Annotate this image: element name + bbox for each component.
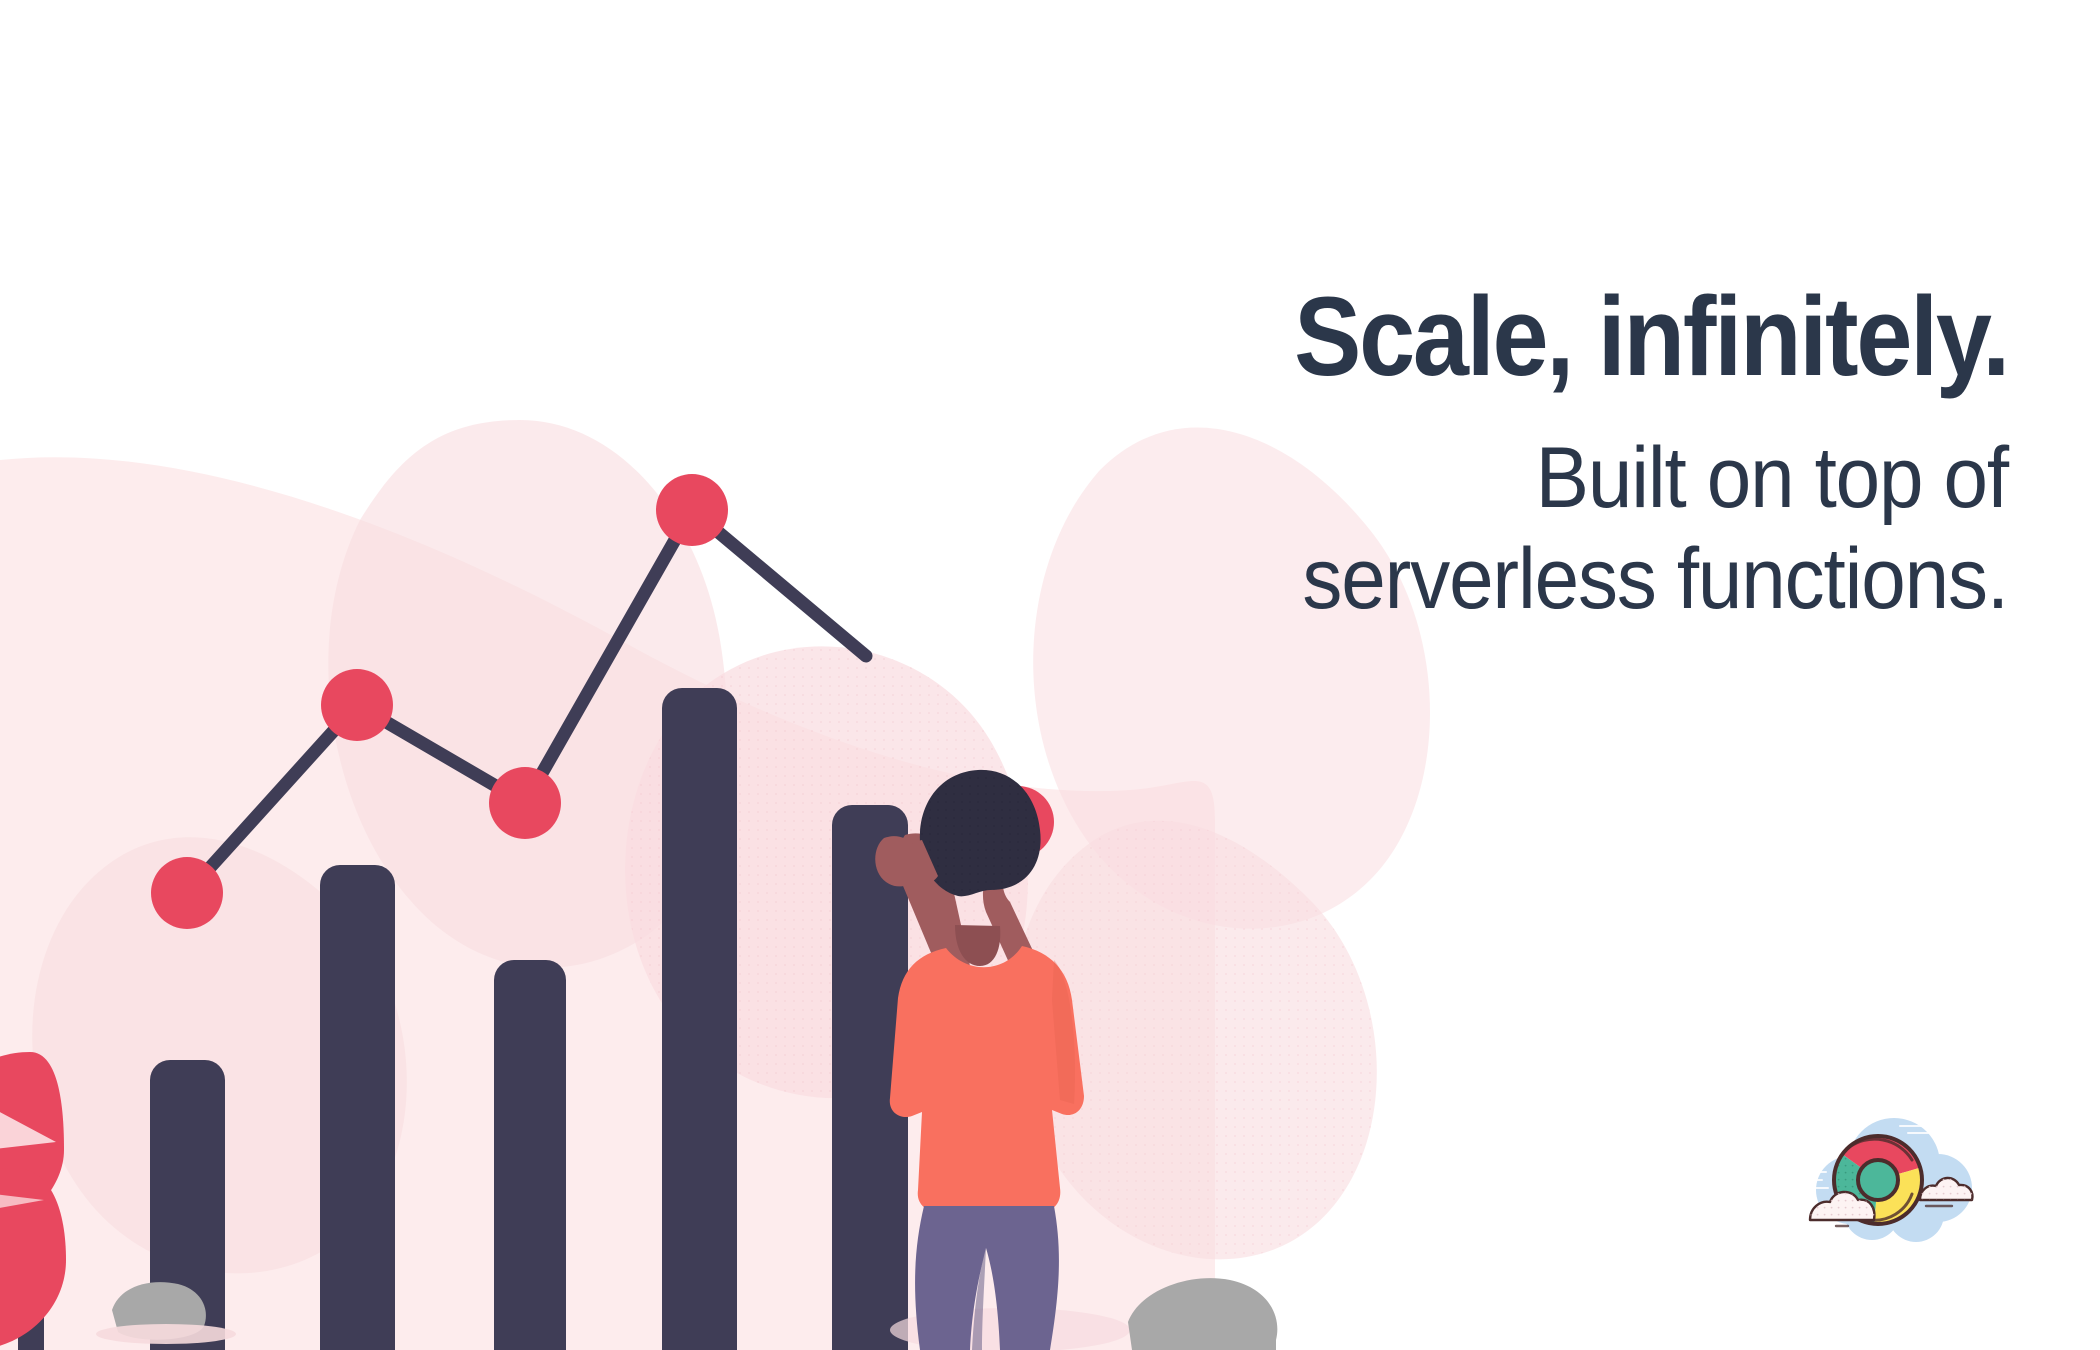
- rock-left-shadow: [96, 1324, 236, 1344]
- person-hair-texture: [920, 770, 1041, 896]
- page-title: Scale, infinitely.: [1171, 280, 2008, 394]
- illustration-artwork: [0, 0, 2100, 1350]
- chart-marker-3: [489, 767, 561, 839]
- page-subtitle-line-2: serverless functions.: [1302, 531, 2008, 627]
- chart-bar-4: [662, 688, 737, 1350]
- chart-marker-2: [321, 669, 393, 741]
- chart-bar-3: [494, 960, 566, 1350]
- poster-canvas: Scale, infinitely. Built on top of serve…: [0, 0, 2100, 1350]
- chrome-cloud-logo: [1802, 1108, 1992, 1258]
- chart-marker-1: [151, 857, 223, 929]
- chart-bar-2: [320, 865, 395, 1350]
- copy-block: Scale, infinitely. Built on top of serve…: [1078, 280, 2008, 629]
- chart-marker-4: [656, 474, 728, 546]
- page-subtitle-line-1: Built on top of: [1536, 430, 2008, 526]
- page-subtitle: Built on top of serverless functions.: [1143, 428, 2008, 629]
